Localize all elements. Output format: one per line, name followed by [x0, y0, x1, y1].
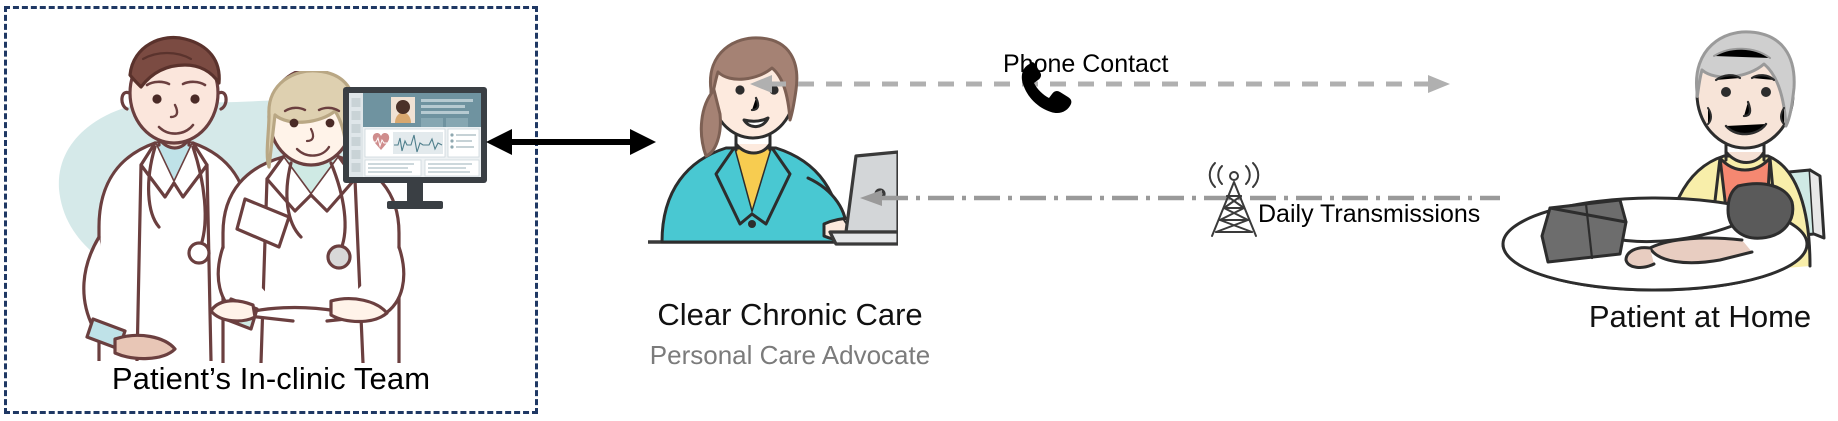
clinic-team-label: Patient’s In-clinic Team [7, 361, 535, 397]
patient-home-label: Patient at Home [1530, 296, 1838, 338]
advocate-sublabel: Personal Care Advocate [600, 336, 980, 374]
telephone-handset-icon [1016, 58, 1074, 116]
clinic-team-panel: Patient’s In-clinic Team [4, 6, 538, 414]
care-advocate-illustration [648, 28, 898, 260]
patient-home-caption: Patient at Home [1530, 296, 1838, 338]
clinic-advocate-connector [486, 126, 656, 158]
ehr-monitor-illustration [339, 85, 499, 215]
diagram-canvas: Patient’s In-clinic Team [0, 0, 1838, 421]
advocate-label: Clear Chronic Care [600, 294, 980, 336]
advocate-caption: Clear Chronic Care Personal Care Advocat… [600, 294, 980, 374]
patient-at-home-illustration [1480, 26, 1830, 294]
daily-transmission-label: Daily Transmissions [1258, 200, 1480, 229]
